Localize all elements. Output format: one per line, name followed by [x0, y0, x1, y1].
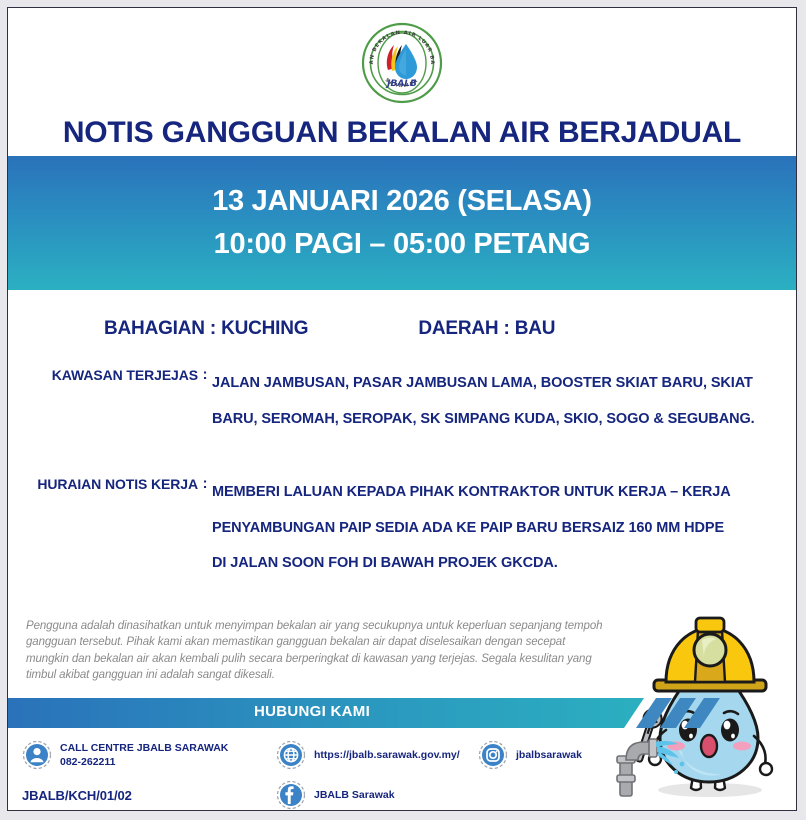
contact-instagram[interactable]: jbalbsarawak [478, 740, 582, 770]
huraian-line: MEMBERI LALUAN KEPADA PIHAK KONTRAKTOR U… [212, 475, 776, 511]
kawasan-colon: : [198, 366, 212, 437]
huraian-line: DI JALAN SOON FOH DI BAWAH PROJEK GKCDA. [212, 546, 776, 582]
instagram-icon [478, 740, 508, 770]
disclaimer-text: Pengguna adalah dinasihatkan untuk menyi… [26, 618, 606, 683]
person-icon [22, 740, 52, 770]
kawasan-label: KAWASAN TERJEJAS [8, 366, 198, 437]
notice-date: 13 JANUARI 2026 (SELASA) [212, 180, 592, 224]
globe-icon [276, 740, 306, 770]
contact-website[interactable]: https://jbalb.sarawak.gov.my/ [276, 740, 460, 770]
date-time-banner: 13 JANUARI 2026 (SELASA) 10:00 PAGI – 05… [8, 156, 796, 290]
contact-call-centre[interactable]: CALL CENTRE JBALB SARAWAK 082-262211 [22, 740, 228, 770]
daerah-value: DAERAH : BAU [418, 318, 555, 340]
contact-facebook[interactable]: JBALB Sarawak [276, 780, 395, 810]
field-kawasan-terjejas: KAWASAN TERJEJAS : JALAN JAMBUSAN, PASAR… [8, 366, 796, 437]
facebook-icon [276, 780, 306, 810]
logo-container: JABATAN BEKALAN AIR LUAR BANDAR SARAWAK … [8, 22, 796, 104]
contact-bar: HUBUNGI KAMI [8, 698, 796, 728]
page-title: NOTIS GANGGUAN BEKALAN AIR BERJADUAL [8, 116, 796, 150]
contacts-section: CALL CENTRE JBALB SARAWAK 082-262211 htt… [8, 736, 796, 811]
facebook-text: JBALB Sarawak [314, 788, 395, 802]
contact-bar-title: HUBUNGI KAMI [8, 703, 616, 720]
region-row: BAHAGIAN : KUCHING DAERAH : BAU [8, 290, 796, 340]
field-huraian-notis-kerja: HURAIAN NOTIS KERJA : MEMBERI LALUAN KEP… [8, 475, 796, 582]
call-centre-text: CALL CENTRE JBALB SARAWAK 082-262211 [60, 741, 228, 769]
call-centre-line2: 082-262211 [60, 755, 228, 769]
notice-body: BAHAGIAN : KUCHING DAERAH : BAU KAWASAN … [8, 290, 796, 582]
website-text: https://jbalb.sarawak.gov.my/ [314, 748, 460, 762]
huraian-value: MEMBERI LALUAN KEPADA PIHAK KONTRAKTOR U… [212, 475, 796, 582]
huraian-colon: : [198, 475, 212, 582]
kawasan-line: JALAN JAMBUSAN, PASAR JAMBUSAN LAMA, BOO… [212, 366, 776, 402]
kawasan-line: BARU, SEROMAH, SEROPAK, SK SIMPANG KUDA,… [212, 402, 776, 438]
bahagian-value: BAHAGIAN : KUCHING [104, 318, 308, 340]
call-centre-line1: CALL CENTRE JBALB SARAWAK [60, 742, 228, 754]
jbalb-logo-icon: JABATAN BEKALAN AIR LUAR BANDAR SARAWAK … [361, 22, 443, 104]
notice-poster: JABATAN BEKALAN AIR LUAR BANDAR SARAWAK … [7, 7, 797, 811]
instagram-text: jbalbsarawak [516, 748, 582, 762]
notice-time: 10:00 PAGI – 05:00 PETANG [214, 223, 591, 267]
huraian-label: HURAIAN NOTIS KERJA [8, 475, 198, 582]
svg-text:JBALB: JBALB [385, 79, 417, 89]
huraian-line: PENYAMBUNGAN PAIP SEDIA ADA KE PAIP BARU… [212, 511, 776, 547]
kawasan-value: JALAN JAMBUSAN, PASAR JAMBUSAN LAMA, BOO… [212, 366, 796, 437]
reference-number: JBALB/KCH/01/02 [22, 788, 132, 803]
